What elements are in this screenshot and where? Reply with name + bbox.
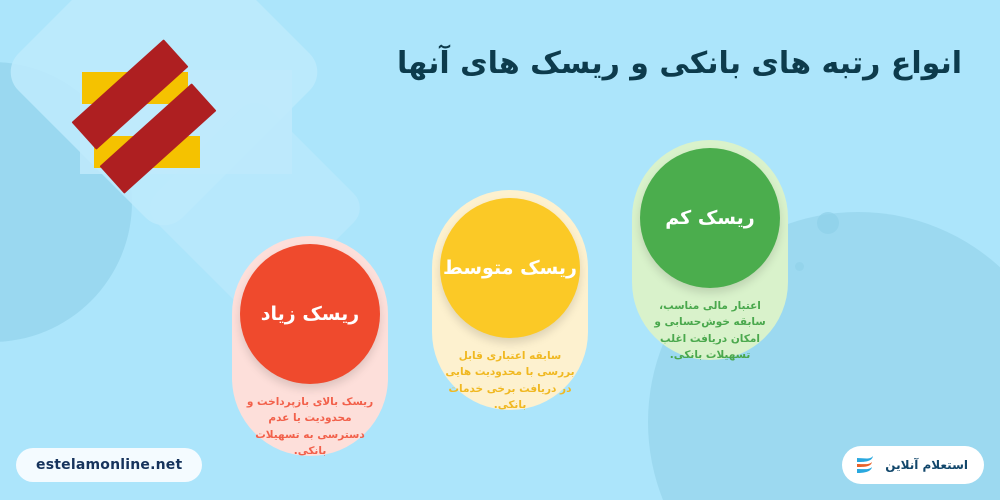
risk-card-medium: ریسک متوسط سابقه اعتباری قابل بررسی با م… bbox=[432, 190, 588, 410]
site-brand-badge[interactable]: استعلام آنلاین bbox=[842, 446, 984, 484]
risk-description-low: اعتبار مالی مناسب، سابقه خوش‌حسابی و امک… bbox=[644, 298, 776, 363]
risk-card-low: ریسک کم اعتبار مالی مناسب، سابقه خوش‌حسا… bbox=[632, 140, 788, 360]
risk-bubble-low: ریسک کم bbox=[640, 148, 780, 288]
risk-title-medium: ریسک متوسط bbox=[443, 257, 577, 280]
website-url-text: estelamonline.net bbox=[36, 457, 182, 473]
risk-title-high: ریسک زیاد bbox=[261, 303, 359, 326]
site-brand-label: استعلام آنلاین bbox=[885, 458, 968, 472]
risk-bubble-high: ریسک زیاد bbox=[240, 244, 380, 384]
infographic-canvas: انواع رتبه های بانکی و ریسک های آنها ریس… bbox=[0, 0, 1000, 500]
page-title: انواع رتبه های بانکی و ریسک های آنها bbox=[397, 46, 962, 81]
brand-logo-mark-icon bbox=[74, 48, 212, 188]
risk-bubble-medium: ریسک متوسط bbox=[440, 198, 580, 338]
risk-title-low: ریسک کم bbox=[665, 207, 754, 230]
risk-description-medium: سابقه اعتباری قابل بررسی با محدودیت هایی… bbox=[444, 348, 576, 413]
risk-description-high: ریسک بالای بازپرداخت و محدودیت یا عدم دس… bbox=[244, 394, 376, 459]
website-url-badge[interactable]: estelamonline.net bbox=[16, 448, 202, 482]
background-dot-small bbox=[795, 262, 804, 271]
background-dot-large bbox=[817, 212, 839, 234]
estelam-online-wave-icon bbox=[854, 453, 876, 477]
risk-card-high: ریسک زیاد ریسک بالای بازپرداخت و محدودیت… bbox=[232, 236, 388, 456]
